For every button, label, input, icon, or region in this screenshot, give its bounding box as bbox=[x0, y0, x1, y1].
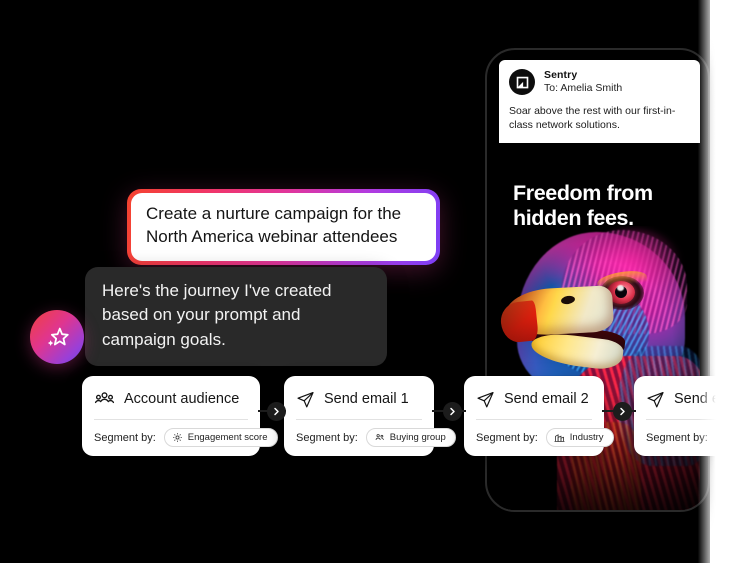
email-preheader: Soar above the rest with our first-in-cl… bbox=[509, 104, 690, 133]
journey-card-send-email-2[interactable]: Send email 2 Segment by: Industry bbox=[464, 376, 604, 456]
email-sender-row: Sentry To: Amelia Smith bbox=[509, 69, 690, 95]
email-headline: Freedom from hidden fees. bbox=[499, 150, 700, 231]
segment-by-label: Segment by: bbox=[296, 432, 358, 444]
journey-card-title-row: Send email 3 bbox=[646, 385, 750, 413]
email-sender-name: Sentry bbox=[544, 69, 622, 82]
screenshot-stage: Sentry To: Amelia Smith Soar above the r… bbox=[0, 0, 750, 563]
journey-card-segment-row: Segment by: Industry bbox=[646, 428, 750, 447]
buying-group-icon bbox=[374, 432, 385, 443]
assistant-response-text: Here's the journey I've created based on… bbox=[102, 279, 370, 352]
email-header-card: Sentry To: Amelia Smith Soar above the r… bbox=[499, 60, 700, 143]
segment-chip-label: Engagement score bbox=[188, 432, 268, 443]
segment-chip-industry[interactable]: Industry bbox=[546, 428, 614, 447]
email-recipient: To: Amelia Smith bbox=[544, 82, 622, 95]
journey-card-label: Send email 3 bbox=[674, 391, 750, 407]
email-sender-meta: Sentry To: Amelia Smith bbox=[544, 69, 622, 95]
journey-card-segment-row: Segment by: Industry bbox=[476, 428, 592, 447]
segment-chip-label: Buying group bbox=[390, 432, 446, 443]
sentry-logo-icon bbox=[509, 69, 535, 95]
user-prompt-text: Create a nurture campaign for the North … bbox=[146, 203, 421, 249]
journey-card-label: Account audience bbox=[124, 391, 239, 407]
journey-card-segment-row: Segment by: Engagement score bbox=[94, 428, 248, 447]
journey-card-divider bbox=[476, 419, 592, 420]
journey-card-divider bbox=[296, 419, 422, 420]
journey-card-divider bbox=[646, 419, 750, 420]
user-prompt-inner: Create a nurture campaign for the North … bbox=[131, 193, 436, 261]
journey-card-send-email-1[interactable]: Send email 1 Segment by: Buying group bbox=[284, 376, 434, 456]
journey-card-label: Send email 2 bbox=[504, 391, 589, 407]
chevron-right-icon[interactable] bbox=[267, 402, 286, 421]
segment-by-label: Segment by: bbox=[94, 432, 156, 444]
journey-card-divider bbox=[94, 419, 248, 420]
chevron-right-icon[interactable] bbox=[613, 402, 632, 421]
send-email-icon bbox=[296, 390, 315, 409]
user-prompt-bubble: Create a nurture campaign for the North … bbox=[127, 189, 440, 265]
segment-chip-buying-group[interactable]: Buying group bbox=[366, 428, 456, 447]
journey-card-send-email-3[interactable]: Send email 3 Segment by: Industry bbox=[634, 376, 750, 456]
assistant-response-bubble: Here's the journey I've created based on… bbox=[85, 267, 387, 366]
ai-sparkle-icon bbox=[30, 310, 84, 364]
journey-card-segment-row: Segment by: Buying group bbox=[296, 428, 422, 447]
segment-chip-label: Industry bbox=[740, 432, 750, 443]
journey-card-title-row: Account audience bbox=[94, 385, 248, 413]
journey-card-title-row: Send email 1 bbox=[296, 385, 422, 413]
journey-flow: Account audience Segment by: Engagement … bbox=[0, 370, 750, 470]
send-email-icon bbox=[476, 390, 495, 409]
segment-chip-label: Industry bbox=[570, 432, 604, 443]
journey-card-title-row: Send email 2 bbox=[476, 385, 592, 413]
send-email-icon bbox=[646, 390, 665, 409]
audience-group-icon bbox=[94, 389, 115, 410]
segment-by-label: Segment by: bbox=[646, 432, 708, 444]
segment-chip-engagement-score[interactable]: Engagement score bbox=[164, 428, 278, 447]
journey-card-label: Send email 1 bbox=[324, 391, 409, 407]
segment-chip-industry[interactable]: Industry bbox=[716, 428, 750, 447]
journey-card-account-audience[interactable]: Account audience Segment by: Engagement … bbox=[82, 376, 260, 456]
engagement-score-icon bbox=[172, 432, 183, 443]
chevron-right-icon[interactable] bbox=[443, 402, 462, 421]
industry-icon bbox=[724, 432, 735, 443]
segment-by-label: Segment by: bbox=[476, 432, 538, 444]
industry-icon bbox=[554, 432, 565, 443]
